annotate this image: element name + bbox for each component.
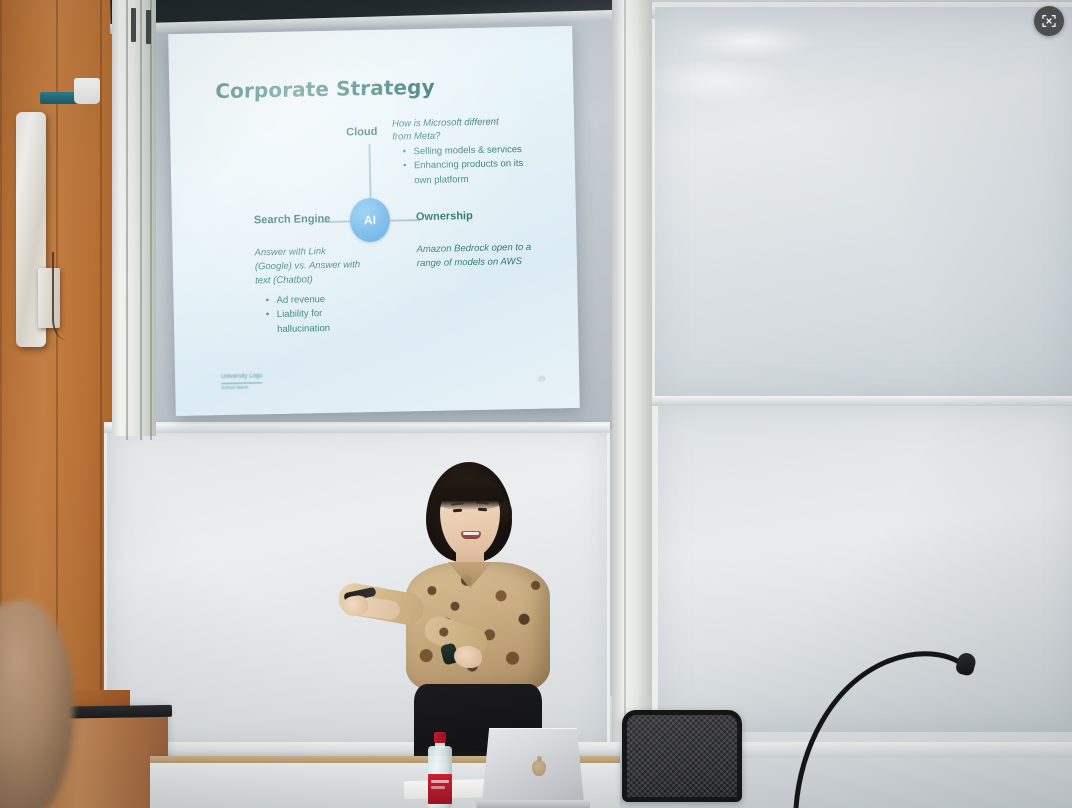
water-bottle-cap (434, 732, 446, 743)
water-bottle-label-text (431, 780, 449, 783)
pillar-bracket-slot (146, 10, 151, 44)
wood-panel-seam (56, 0, 58, 700)
laptop-base (476, 800, 590, 808)
expand-image-button[interactable] (1034, 6, 1064, 36)
water-bottle-label (428, 774, 452, 804)
presenter-eye (478, 508, 487, 512)
connector-line-vertical (368, 144, 371, 200)
wall-speaker-cable (52, 252, 66, 340)
search-engine-note: Answer with Link (Google) vs. Answer wit… (254, 244, 363, 287)
diagram-node-ownership: Ownership (416, 210, 473, 223)
wall-trim-line (624, 0, 626, 752)
slide-page-number: 25 (538, 376, 545, 383)
laptop-lid (482, 728, 584, 802)
presentation-slide: Corporate Strategy AI Cloud How is Micro… (168, 26, 580, 416)
office-chair-back (622, 710, 742, 802)
coffee-cup (74, 78, 100, 104)
water-bottle-label-text (431, 786, 445, 789)
water-bottle (428, 732, 452, 808)
list-item: Enhancing products on its own platform (403, 157, 532, 188)
apple-logo-icon (532, 760, 546, 776)
presenter-teeth (463, 532, 479, 536)
pillar-bracket-slot (131, 8, 136, 42)
microphone-neck (790, 640, 1010, 808)
pillar-groove (150, 0, 152, 440)
pillar-groove (140, 0, 142, 440)
diagram-node-search-engine: Search Engine (254, 213, 331, 227)
pillar-groove (126, 0, 128, 440)
whiteboard-lower-rail (104, 424, 610, 433)
expand-scan-icon (1041, 13, 1057, 29)
slide-title: Corporate Strategy (215, 75, 435, 103)
lecture-photo: Corporate Strategy AI Cloud How is Micro… (0, 0, 1072, 808)
office-chair (622, 710, 742, 808)
laptop (476, 728, 590, 808)
presenter-right-hand (454, 646, 482, 668)
whiteboard-right-top (648, 2, 1072, 402)
projection-screen: Corporate Strategy AI Cloud How is Micro… (168, 26, 580, 416)
slide-footer-sub: School Name (221, 385, 262, 391)
search-engine-bullet-list: Ad revenue Liability for hallucination (265, 292, 376, 337)
diagram-node-cloud: Cloud (346, 126, 377, 139)
whiteboard-right-top-rail (648, 396, 1072, 406)
ownership-note: Amazon Bedrock open to a range of models… (416, 241, 539, 271)
cloud-question: How is Microsoft different from Meta? (392, 115, 513, 144)
gooseneck-microphone (790, 640, 1010, 808)
slide-footer-logo: University Logo School Name (221, 374, 263, 391)
wood-panel-seam (100, 0, 102, 700)
whiteboard-glare (645, 59, 795, 103)
whiteboard-glare (685, 23, 815, 59)
slide-footer-org: University Logo (221, 374, 263, 384)
cloud-bullet-list: Selling models & services Enhancing prod… (402, 143, 531, 188)
diagram-center-node: AI (350, 198, 391, 243)
list-item: Liability for hallucination (266, 306, 377, 337)
wall-trim-vertical (612, 0, 652, 752)
